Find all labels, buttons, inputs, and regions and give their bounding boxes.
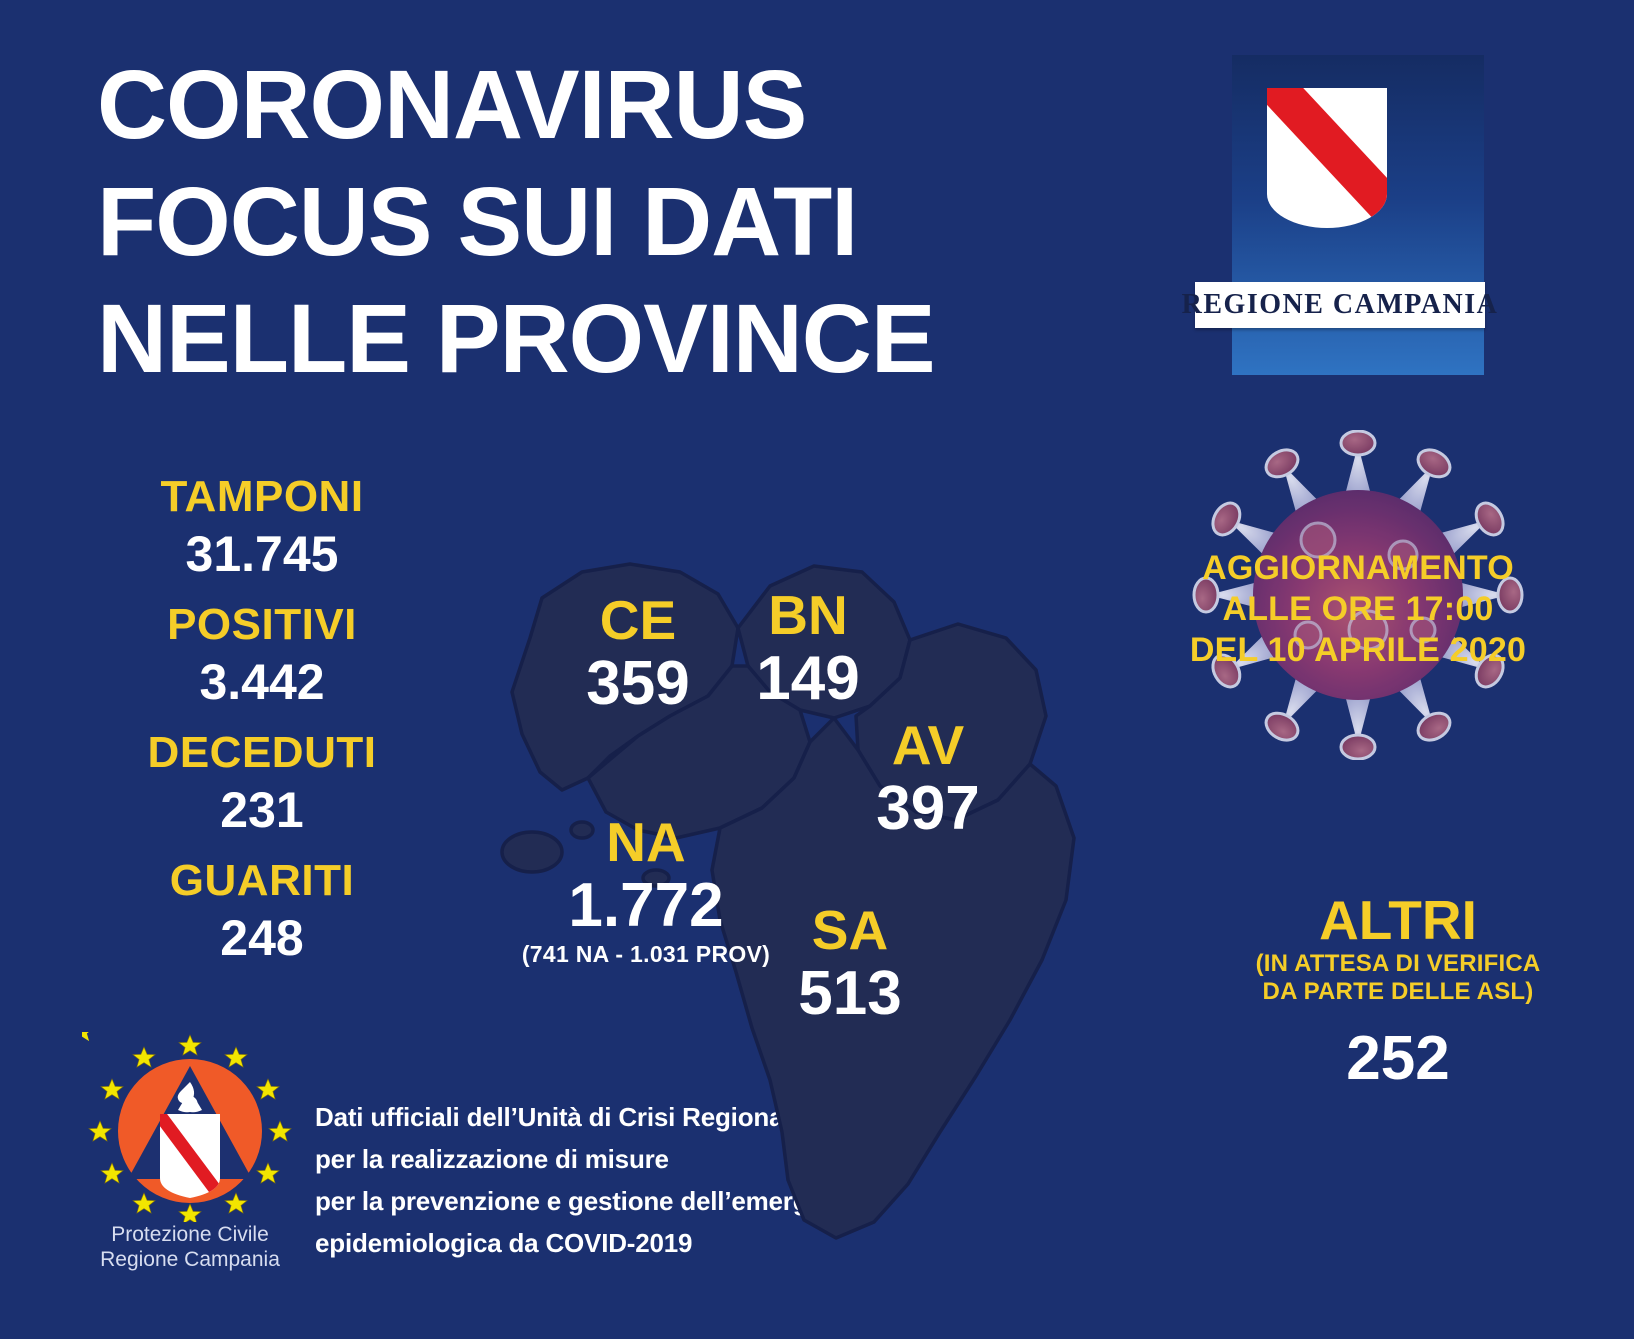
stat-tamponi: TAMPONI 31.745 xyxy=(97,470,427,584)
shield-red-stripe xyxy=(1267,88,1387,228)
altri-title: ALTRI xyxy=(1198,890,1598,950)
stat-label: DECEDUTI xyxy=(97,726,427,780)
stat-guariti: GUARITI 248 xyxy=(97,854,427,968)
province-label-sa: SA 513 xyxy=(760,900,940,1028)
stat-value: 231 xyxy=(97,780,427,840)
province-code: BN xyxy=(718,585,898,645)
title-line-1: CORONAVIRUS xyxy=(97,46,1097,163)
stat-value: 31.745 xyxy=(97,524,427,584)
protezione-civile-caption: Protezione Civile Regione Campania xyxy=(82,1222,298,1272)
campania-shield-icon xyxy=(1267,88,1387,228)
province-code: AV xyxy=(838,715,1018,775)
update-text: AGGIORNAMENTO ALLE ORE 17:00 DEL 10 APRI… xyxy=(1158,548,1558,671)
altri-value: 252 xyxy=(1198,1024,1598,1094)
province-value: 149 xyxy=(718,645,898,713)
province-code: CE xyxy=(548,590,728,650)
protezione-civile-logo: Protezione Civile Regione Campania xyxy=(82,1032,298,1282)
province-value: 1.772 xyxy=(516,872,776,940)
page-title: CORONAVIRUS FOCUS SUI DATI NELLE PROVINC… xyxy=(97,46,1097,397)
stat-label: GUARITI xyxy=(97,854,427,908)
province-value: 513 xyxy=(760,960,940,1028)
protezione-civile-emblem-icon xyxy=(82,1032,298,1222)
province-label-bn: BN 149 xyxy=(718,585,898,713)
update-line-1: AGGIORNAMENTO xyxy=(1158,548,1558,589)
stat-label: POSITIVI xyxy=(97,598,427,652)
update-panel: AGGIORNAMENTO ALLE ORE 17:00 DEL 10 APRI… xyxy=(1158,430,1558,760)
altri-sub-line-2: DA PARTE DELLE ASL) xyxy=(1198,978,1598,1006)
pc-caption-line-2: Regione Campania xyxy=(82,1247,298,1272)
stat-value: 3.442 xyxy=(97,652,427,712)
title-line-2: FOCUS SUI DATI xyxy=(97,163,1097,280)
update-line-3: DEL 10 APRILE 2020 xyxy=(1158,630,1558,671)
province-label-na: NA 1.772 (741 NA - 1.031 PROV) xyxy=(516,812,776,968)
province-code: SA xyxy=(760,900,940,960)
stat-value: 248 xyxy=(97,908,427,968)
province-code: NA xyxy=(516,812,776,872)
province-value: 359 xyxy=(548,650,728,718)
stat-deceduti: DECEDUTI 231 xyxy=(97,726,427,840)
province-label-ce: CE 359 xyxy=(548,590,728,718)
stat-positivi: POSITIVI 3.442 xyxy=(97,598,427,712)
province-sub-value: (741 NA - 1.031 PROV) xyxy=(516,940,776,968)
infographic-poster: CORONAVIRUS FOCUS SUI DATI NELLE PROVINC… xyxy=(0,0,1634,1339)
title-line-3: NELLE PROVINCE xyxy=(97,280,1097,397)
province-value: 397 xyxy=(838,775,1018,843)
logo-name-text: REGIONE CAMPANIA xyxy=(1182,289,1499,321)
altri-sub-line-1: (IN ATTESA DI VERIFICA xyxy=(1198,950,1598,978)
altri-block: ALTRI (IN ATTESA DI VERIFICA DA PARTE DE… xyxy=(1198,890,1598,1094)
logo-namebar: REGIONE CAMPANIA xyxy=(1195,282,1485,328)
update-line-2: ALLE ORE 17:00 xyxy=(1158,589,1558,630)
stat-label: TAMPONI xyxy=(97,470,427,524)
pc-caption-line-1: Protezione Civile xyxy=(82,1222,298,1247)
province-label-av: AV 397 xyxy=(838,715,1018,843)
summary-stats: TAMPONI 31.745 POSITIVI 3.442 DECEDUTI 2… xyxy=(97,470,427,982)
regione-campania-logo: REGIONE CAMPANIA xyxy=(1232,55,1484,375)
